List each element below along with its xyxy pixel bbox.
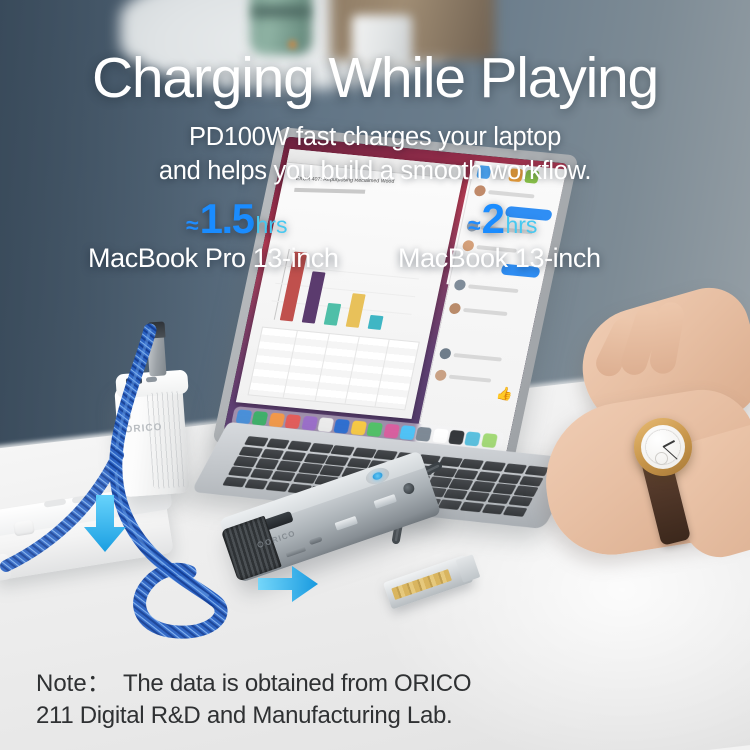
- footnote-line-2: 211 Digital R&D and Manufacturing Lab.: [36, 700, 656, 732]
- flow-arrows: [0, 0, 750, 750]
- subheading: PD100W fast charges your laptop and help…: [0, 120, 750, 189]
- charge-time-unit: hrs: [256, 214, 288, 237]
- device-label-2: MacBook 13-inch: [398, 243, 601, 274]
- page-title: Charging While Playing: [0, 50, 750, 107]
- charge-time-stat-1: ≈ 1.5 hrs: [186, 198, 287, 240]
- approx-symbol: ≈: [186, 214, 199, 237]
- footnote-line-1: Note： The data is obtained from ORICO: [36, 668, 656, 700]
- subheading-line-2: and helps you build a smooth workflow.: [0, 154, 750, 188]
- charge-time-value: 1.5: [200, 198, 254, 240]
- charge-time-unit: hrs: [505, 214, 537, 237]
- subheading-line-1: PD100W fast charges your laptop: [0, 120, 750, 154]
- product-marketing-image: ORICO EXCR 407: [0, 0, 750, 750]
- arrow-right-to-hub: [258, 566, 318, 602]
- approx-symbol: ≈: [468, 214, 481, 237]
- charge-time-value: 2: [482, 198, 504, 240]
- footnote: Note： The data is obtained from ORICO 21…: [36, 668, 656, 733]
- arrow-down-to-outlet: [84, 495, 126, 552]
- charge-time-stat-2: ≈ 2 hrs: [468, 198, 537, 240]
- device-label-1: MacBook Pro 13-inch: [88, 243, 339, 274]
- footnote-label: Note：: [36, 670, 111, 697]
- footnote-text-1: The data is obtained from ORICO: [123, 670, 471, 697]
